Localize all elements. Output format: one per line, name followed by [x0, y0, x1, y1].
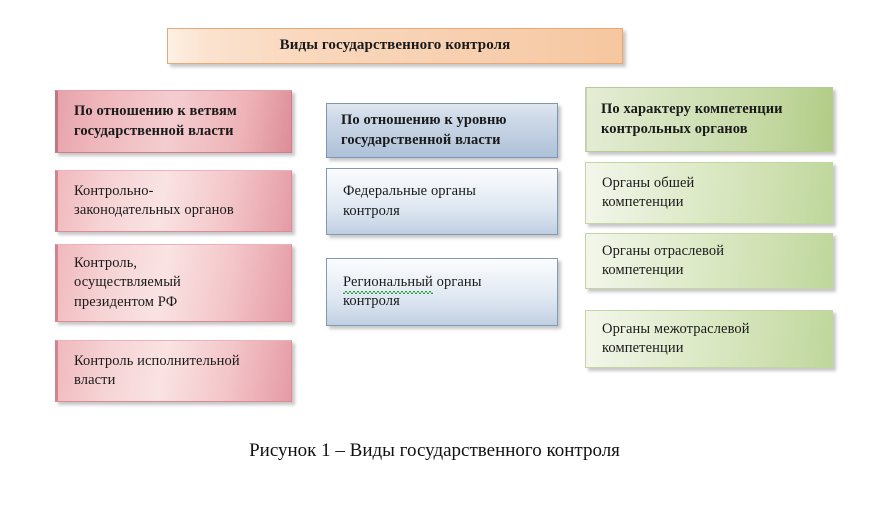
- spellcheck-misspelled-word: Региональный: [343, 273, 433, 292]
- node-general-competence-bodies[interactable]: Органы обшей компетенции: [585, 162, 833, 224]
- node-label: Федеральные органы контроля: [343, 182, 547, 220]
- column-header-branches-of-power[interactable]: По отношению к ветвям государственной вл…: [55, 90, 292, 153]
- node-label: Органы отраслевой компетенции: [602, 242, 822, 280]
- node-label: Региональный органы контроля: [343, 273, 547, 311]
- column-header-label: По характеру компетенции контрольных орг…: [601, 100, 822, 138]
- node-label: Контрольно- законодательных органов: [74, 182, 281, 220]
- column-header-label: По отношению к уровню государственной вл…: [341, 111, 547, 149]
- node-intersectoral-competence-bodies[interactable]: Органы межотраслевой компетенции: [585, 310, 833, 368]
- column-header-label: По отношению к ветвям государственной вл…: [74, 102, 281, 140]
- node-label: Органы обшей компетенции: [602, 174, 822, 212]
- node-label: Органы межотраслевой компетенции: [602, 320, 822, 358]
- node-controlling-legislative-bodies[interactable]: Контрольно- законодательных органов: [55, 170, 292, 232]
- node-control-of-executive-power[interactable]: Контроль исполнительной власти: [55, 340, 292, 402]
- node-sectoral-competence-bodies[interactable]: Органы отраслевой компетенции: [585, 233, 833, 289]
- root-title-box[interactable]: Виды государственного контроля: [167, 28, 623, 64]
- node-federal-control-bodies[interactable]: Федеральные органы контроля: [326, 168, 558, 235]
- node-label: Контроль исполнительной власти: [74, 352, 281, 390]
- figure-caption: Рисунок 1 – Виды государственного контро…: [0, 440, 869, 462]
- node-regional-control-bodies[interactable]: Региональный органы контроля: [326, 258, 558, 326]
- root-title-label: Виды государственного контроля: [280, 36, 511, 56]
- column-header-level-of-power[interactable]: По отношению к уровню государственной вл…: [326, 103, 558, 158]
- column-header-character-of-competence[interactable]: По характеру компетенции контрольных орг…: [585, 87, 833, 152]
- figure-canvas: Виды государственного контроля По отноше…: [0, 0, 869, 505]
- node-control-by-president[interactable]: Контроль, осуществляемый президентом РФ: [55, 244, 292, 322]
- node-label: Контроль, осуществляемый президентом РФ: [74, 254, 281, 311]
